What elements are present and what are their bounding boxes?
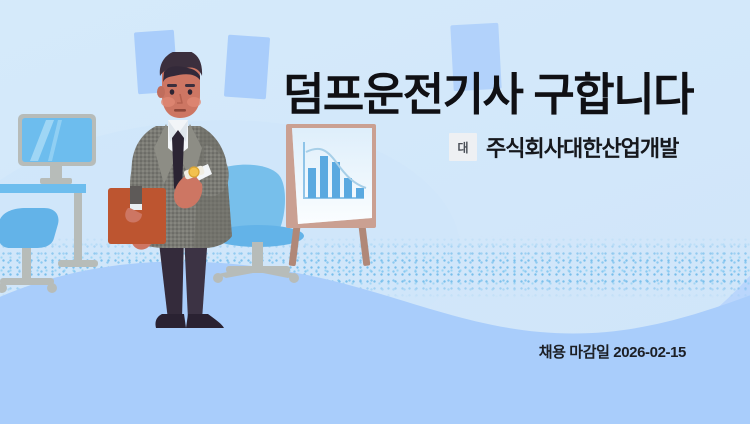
application-deadline: 채용 마감일 2026-02-15	[539, 341, 686, 362]
job-posting-banner: 덤프운전기사 구합니다 대 주식회사대한산업개발 채용 마감일 2026-02-…	[0, 0, 750, 424]
company-logo-badge: 대	[449, 133, 477, 161]
easel-flipchart-illustration	[262, 118, 402, 266]
company-row: 대 주식회사대한산업개발	[449, 131, 678, 163]
document-folder-illustration	[104, 186, 172, 250]
office-chair-left-illustration	[0, 200, 116, 310]
page-title: 덤프운전기사 구합니다	[283, 70, 693, 120]
company-name: 주식회사대한산업개발	[486, 131, 678, 163]
